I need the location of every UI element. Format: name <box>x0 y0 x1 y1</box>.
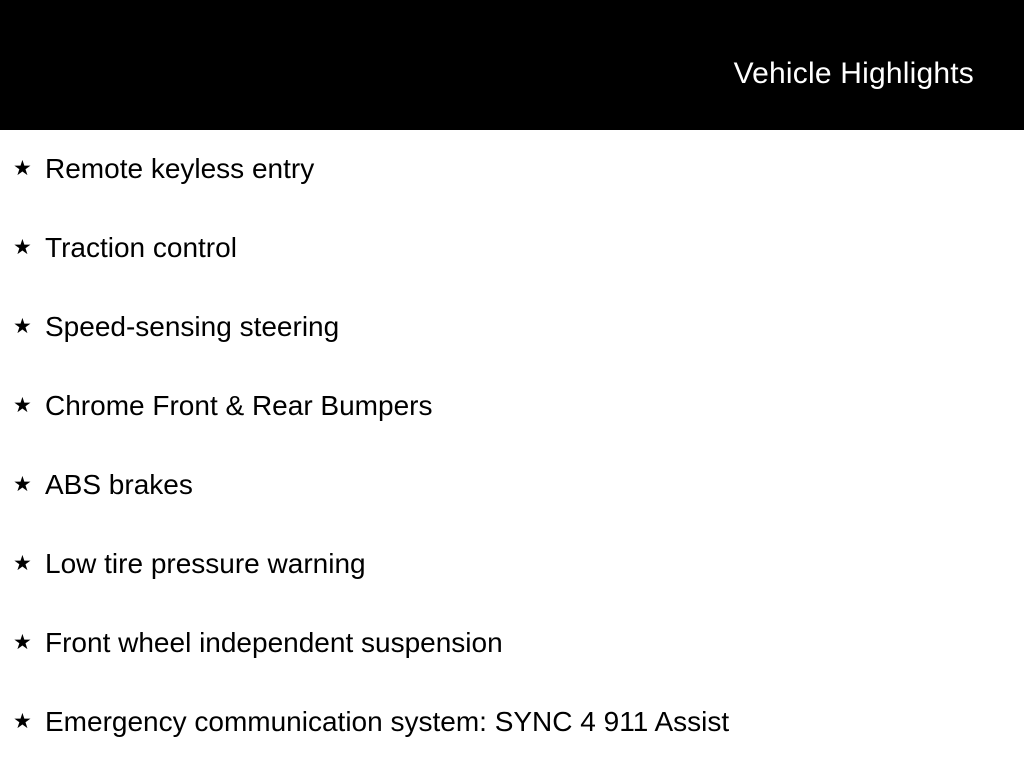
star-icon: ★ <box>13 237 45 258</box>
page-title: Vehicle Highlights <box>734 57 974 90</box>
list-item: ★ Chrome Front & Rear Bumpers <box>0 367 1024 446</box>
list-item: ★ ABS brakes <box>0 446 1024 525</box>
vehicle-highlights-list: ★ Remote keyless entry ★ Traction contro… <box>0 130 1024 768</box>
list-item: ★ Traction control <box>0 209 1024 288</box>
list-item-label: Traction control <box>45 232 237 264</box>
star-icon: ★ <box>13 711 45 732</box>
list-item: ★ Emergency communication system: SYNC 4… <box>0 683 1024 762</box>
list-item: ★ Speed-sensing steering <box>0 288 1024 367</box>
star-icon: ★ <box>13 158 45 179</box>
star-icon: ★ <box>13 395 45 416</box>
list-item: ★ Low tire pressure warning <box>0 525 1024 604</box>
list-item-label: Low tire pressure warning <box>45 548 366 580</box>
list-item-label: Speed-sensing steering <box>45 311 339 343</box>
star-icon: ★ <box>13 474 45 495</box>
list-item-label: Emergency communication system: SYNC 4 9… <box>45 706 729 738</box>
list-item-label: Front wheel independent suspension <box>45 627 503 659</box>
list-item-label: Remote keyless entry <box>45 153 314 185</box>
star-icon: ★ <box>13 316 45 337</box>
star-icon: ★ <box>13 632 45 653</box>
list-item: ★ Front wheel independent suspension <box>0 604 1024 683</box>
star-icon: ★ <box>13 553 45 574</box>
vehicle-highlights-page: Vehicle Highlights ★ Remote keyless entr… <box>0 0 1024 768</box>
list-item-label: Chrome Front & Rear Bumpers <box>45 390 432 422</box>
list-item: ★ Remote keyless entry <box>0 130 1024 209</box>
list-item-label: ABS brakes <box>45 469 193 501</box>
header-bar: Vehicle Highlights <box>0 0 1024 130</box>
